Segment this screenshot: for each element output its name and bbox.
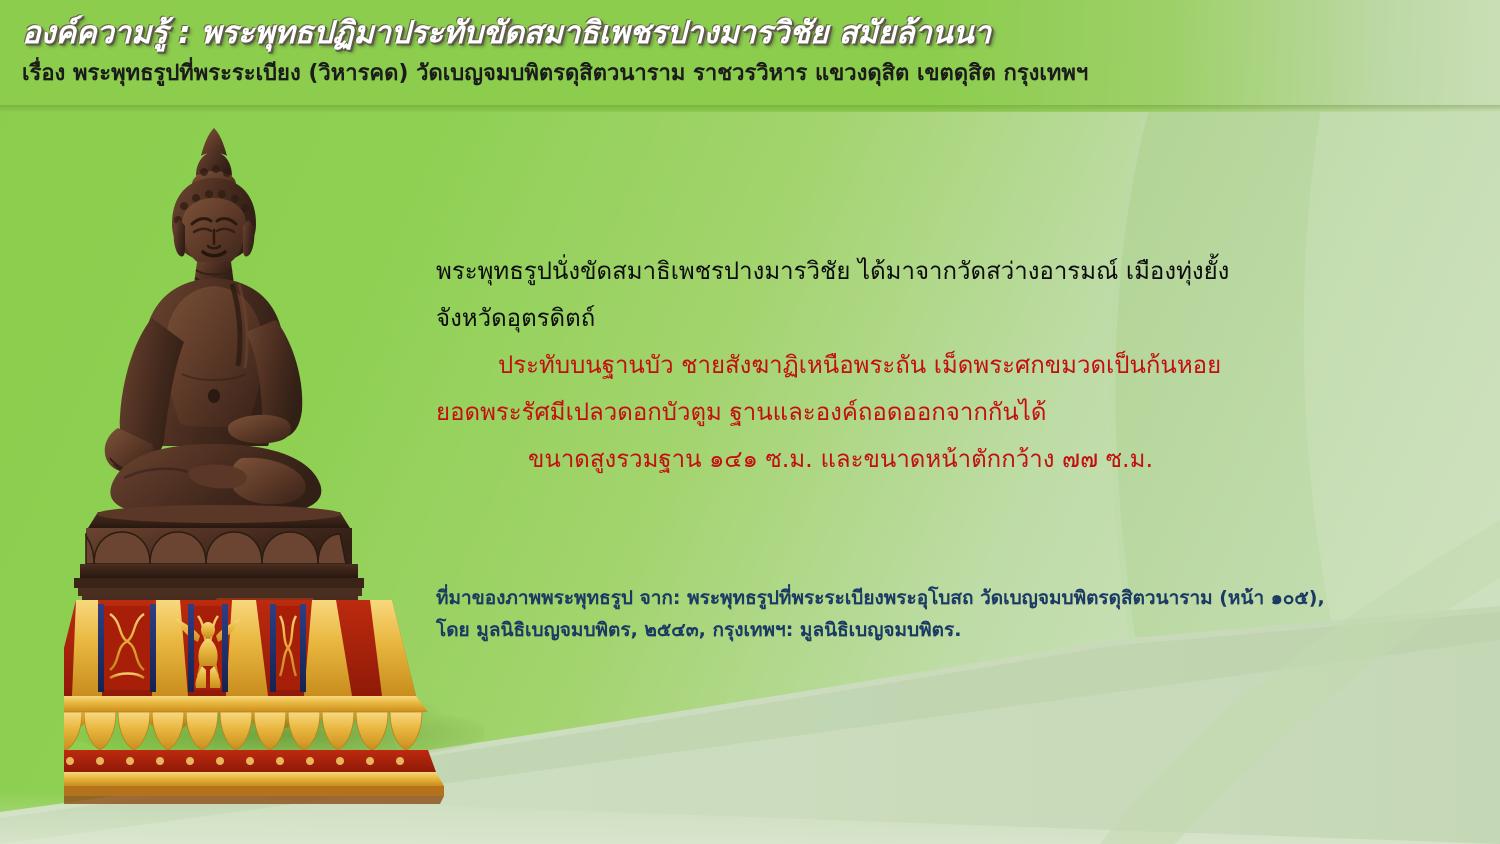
page-title: องค์ความรู้ : พระพุทธปฏิมาประทับขัดสมาธิ… [22, 12, 1500, 54]
text-line-4: ยอดพระรัศมีเปลวดอกบัวตูม ฐานและองค์ถอดออ… [436, 389, 1366, 436]
citation-line-2: โดย มูลนิธิเบญจมบพิตร, ๒๕๔๓, กรุงเทพฯ: ม… [436, 614, 1376, 646]
slide-root: องค์ความรู้ : พระพุทธปฏิมาประทับขัดสมาธิ… [0, 0, 1500, 844]
text-line-5: ขนาดสูงรวมฐาน ๑๔๑ ซ.ม. และขนาดหน้าตักกว้… [436, 436, 1366, 483]
slide-header: องค์ความรู้ : พระพุทธปฏิมาประทับขัดสมาธิ… [0, 0, 1500, 112]
text-line-1: พระพุทธรูปนั่งขัดสมาธิเพชรปางมารวิชัย ได… [436, 248, 1366, 295]
main-text-block: พระพุทธรูปนั่งขัดสมาธิเพชรปางมารวิชัย ได… [436, 248, 1366, 483]
text-line-3: ประทับบนฐานบัว ชายสังฆาฏิเหนือพระถัน เม็… [436, 342, 1366, 389]
text-line-2: จังหวัดอุตรดิตถ์ [436, 295, 1366, 342]
page-subtitle: เรื่อง พระพุทธรูปที่พระระเบียง (วิหารคด)… [22, 56, 1500, 92]
citation-line-1: ที่มาของภาพพระพุทธรูป จาก: พระพุทธรูปที่… [436, 582, 1376, 614]
pedestal-lower-body [64, 600, 484, 844]
buddha-figure [105, 128, 322, 514]
image-source-citation: ที่มาของภาพพระพุทธรูป จาก: พระพุทธรูปที่… [436, 582, 1376, 646]
header-shadow [0, 105, 1500, 112]
